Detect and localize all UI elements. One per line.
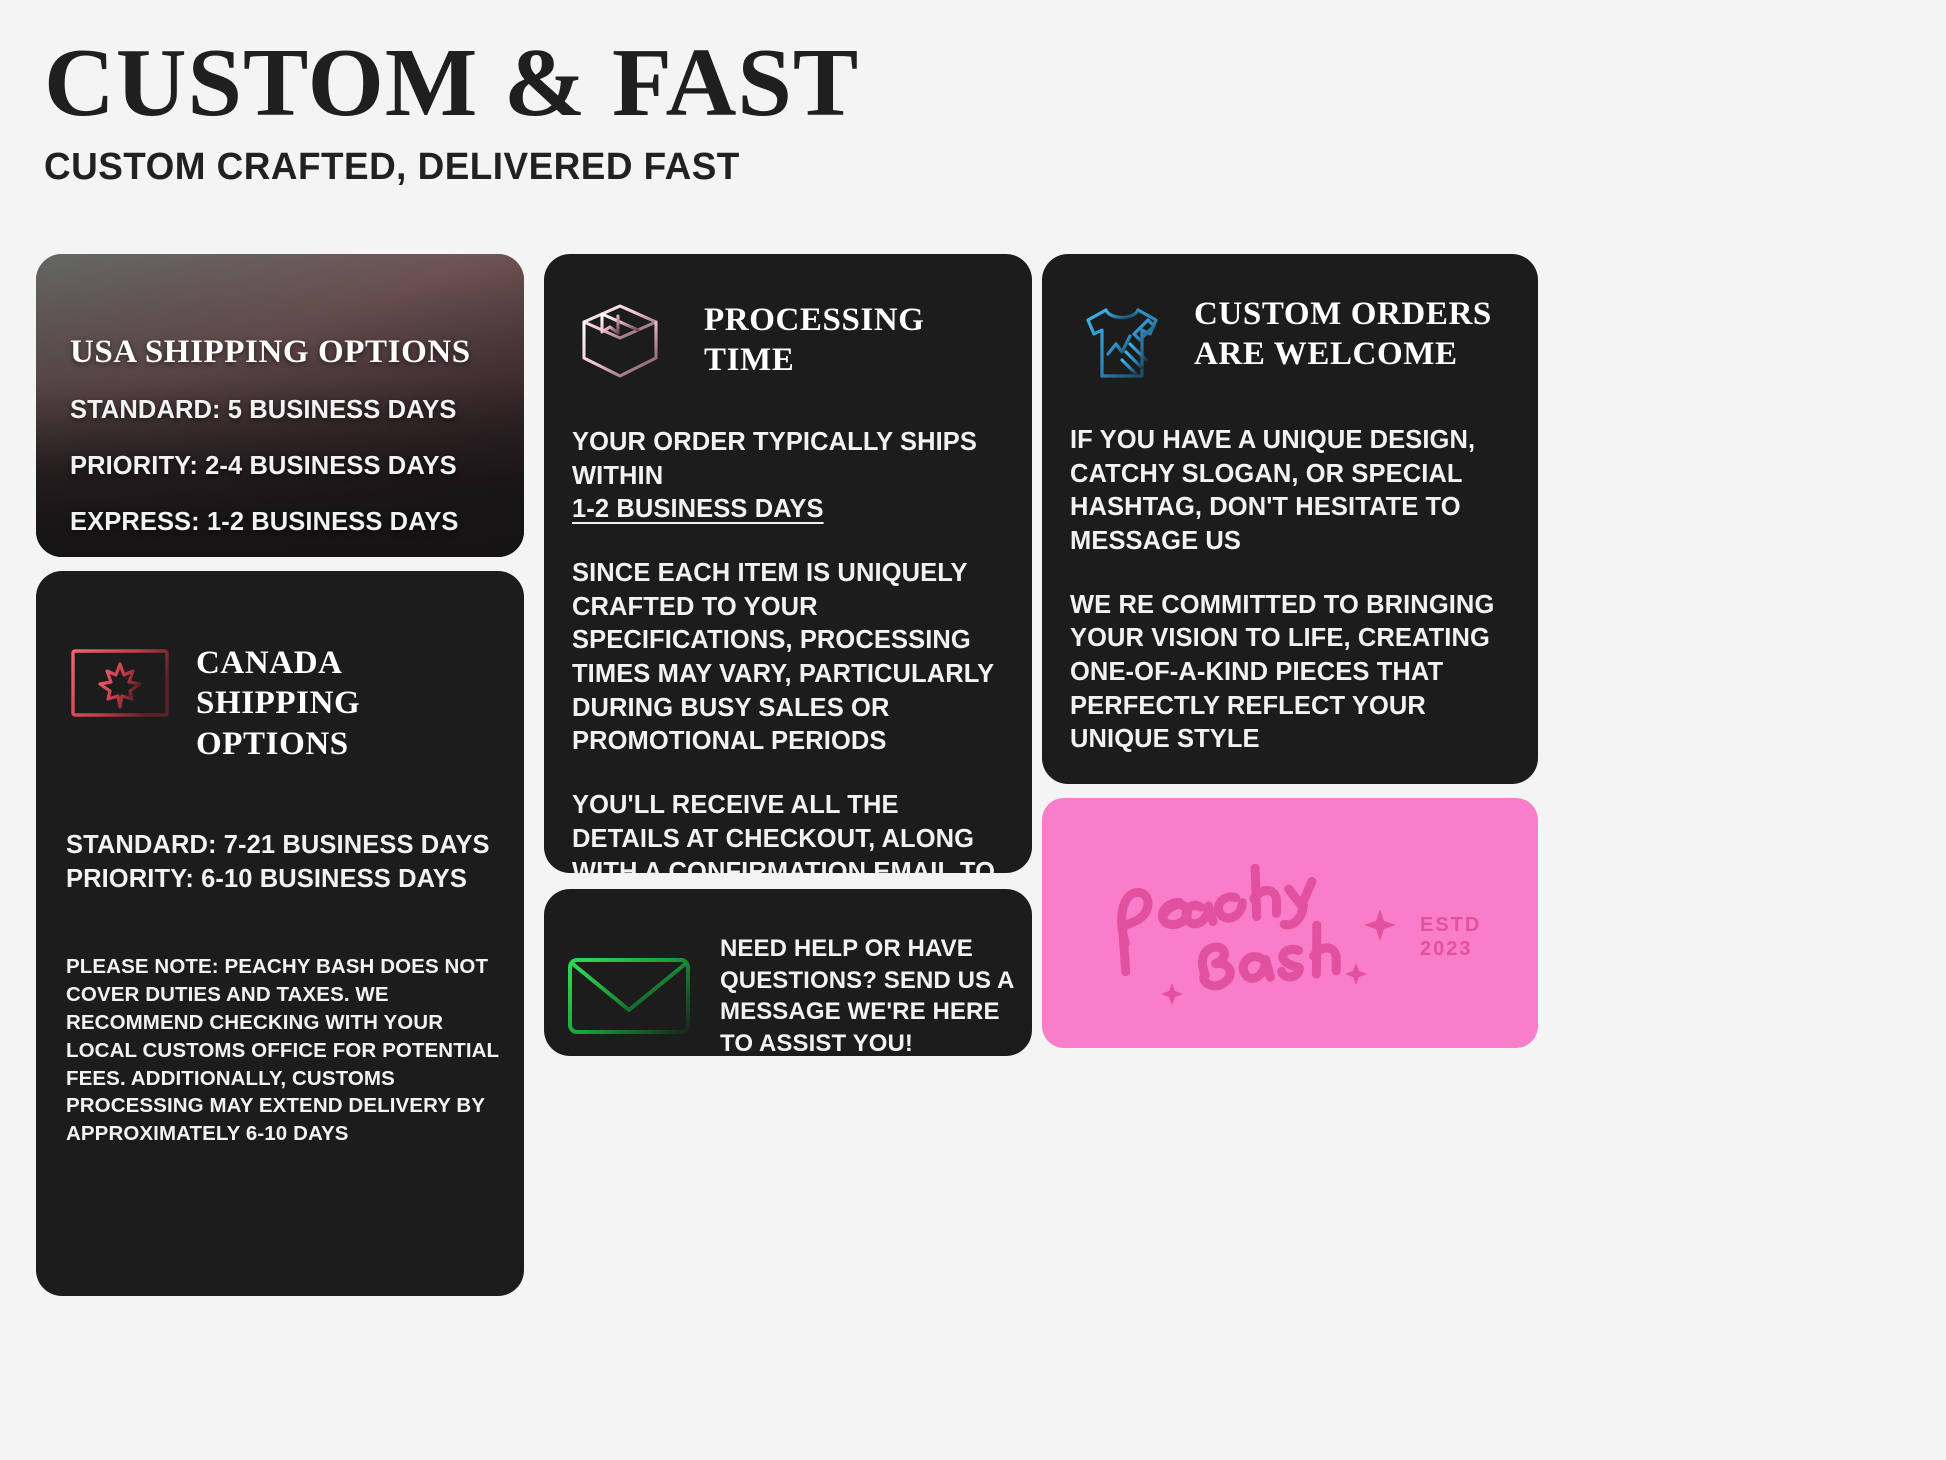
custom-orders-header: CUSTOM ORDERS ARE WELCOME (1070, 294, 1516, 390)
help-text: NEED HELP OR HAVE QUESTIONS? SEND US A M… (720, 933, 1014, 1056)
custom-orders-paragraph-2: WE RE COMMITTED TO BRINGING YOUR VISION … (1070, 589, 1520, 757)
page-header: CUSTOM & FAST CUSTOM CRAFTED, DELIVERED … (44, 34, 1244, 189)
package-box-icon (572, 292, 668, 388)
card-canada-shipping[interactable]: CANADA SHIPPING OPTIONS STANDARD: 7-21 B… (36, 571, 524, 1296)
custom-orders-body: IF YOU HAVE A UNIQUE DESIGN, CATCHY SLOG… (1070, 424, 1520, 757)
processing-card-body: YOUR ORDER TYPICALLY SHIPS WITHIN 1-2 BU… (572, 426, 1012, 873)
page-subtitle: CUSTOM CRAFTED, DELIVERED FAST (44, 146, 1208, 189)
envelope-icon (566, 952, 692, 1040)
page-title: CUSTOM & FAST (44, 34, 1244, 132)
canada-flag-icon (70, 647, 170, 719)
usa-card-content: USA SHIPPING OPTIONS STANDARD: 5 BUSINES… (70, 332, 500, 539)
processing-lead-prefix: YOUR ORDER TYPICALLY SHIPS WITHIN (572, 426, 1012, 493)
card-usa-shipping[interactable]: USA SHIPPING OPTIONS STANDARD: 5 BUSINES… (36, 254, 524, 557)
custom-orders-title: CUSTOM ORDERS ARE WELCOME (1194, 294, 1516, 375)
peachy-bash-logo-icon: ESTD 2023 (1042, 798, 1538, 1048)
custom-orders-paragraph-1: IF YOU HAVE A UNIQUE DESIGN, CATCHY SLOG… (1070, 424, 1520, 559)
processing-lead-emphasis: 1-2 BUSINESS DAYS (572, 493, 1012, 527)
canada-customs-note-wrap: PLEASE NOTE: PEACHY BASH DOES NOT COVER … (66, 953, 502, 1148)
logo-badge-line-2: 2023 (1420, 938, 1473, 960)
processing-paragraph-2: SINCE EACH ITEM IS UNIQUELY CRAFTED TO Y… (572, 557, 1012, 759)
usa-shipping-line-2: PRIORITY: 2-4 BUSINESS DAYS (70, 450, 500, 484)
processing-card-title: PROCESSING TIME (704, 300, 1006, 381)
processing-card-header: PROCESSING TIME (572, 292, 1006, 388)
usa-shipping-line-1: STANDARD: 5 BUSINESS DAYS (70, 394, 500, 428)
canada-shipping-line-1: STANDARD: 7-21 BUSINESS DAYS (66, 829, 498, 863)
card-need-help[interactable]: NEED HELP OR HAVE QUESTIONS? SEND US A M… (544, 889, 1032, 1056)
canada-card-header: CANADA SHIPPING OPTIONS (70, 643, 492, 764)
card-processing-time[interactable]: PROCESSING TIME YOUR ORDER TYPICALLY SHI… (544, 254, 1032, 873)
canada-card-title: CANADA SHIPPING OPTIONS (196, 643, 492, 764)
canada-card-body: STANDARD: 7-21 BUSINESS DAYS PRIORITY: 6… (66, 829, 498, 896)
card-custom-orders[interactable]: CUSTOM ORDERS ARE WELCOME IF YOU HAVE A … (1042, 254, 1538, 784)
cards-grid: USA SHIPPING OPTIONS STANDARD: 5 BUSINES… (36, 254, 1910, 1296)
logo-badge-line-1: ESTD (1420, 914, 1481, 936)
tshirt-design-icon (1070, 294, 1166, 390)
canada-shipping-line-2: PRIORITY: 6-10 BUSINESS DAYS (66, 863, 498, 897)
usa-card-title: USA SHIPPING OPTIONS (70, 332, 500, 372)
card-brand-logo[interactable]: ESTD 2023 (1042, 798, 1538, 1048)
processing-paragraph-3: YOU'LL RECEIVE ALL THE DETAILS AT CHECKO… (572, 789, 1012, 873)
help-card-inner: NEED HELP OR HAVE QUESTIONS? SEND US A M… (566, 933, 1014, 1056)
usa-shipping-line-3: EXPRESS: 1-2 BUSINESS DAYS (70, 506, 500, 540)
canada-customs-note: PLEASE NOTE: PEACHY BASH DOES NOT COVER … (66, 953, 502, 1148)
